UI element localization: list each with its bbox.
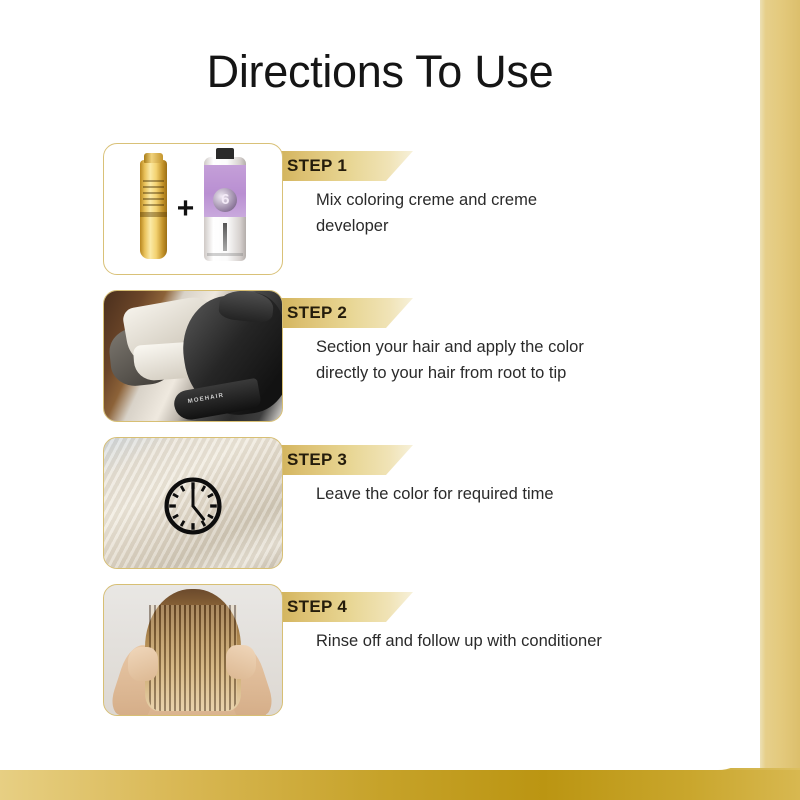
step-row-3: STEP 3 bbox=[103, 437, 723, 569]
gold-border-right bbox=[760, 0, 800, 800]
step-row-4: STEP 4 Rinse off and follow up with cond… bbox=[103, 584, 723, 716]
gold-border-bottom bbox=[0, 768, 800, 800]
step-image-card-1: + 6 bbox=[103, 143, 283, 275]
step-description-3: Leave the color for required time bbox=[316, 481, 736, 507]
right-hand bbox=[226, 645, 256, 679]
step-image-card-4 bbox=[103, 584, 283, 716]
bottle-base bbox=[207, 253, 243, 256]
bottle-purple-label: 6 bbox=[204, 165, 246, 217]
brush-brand-label: MOEHAIR bbox=[187, 393, 224, 405]
bottle-strip bbox=[223, 223, 227, 251]
step-description-2: Section your hair and apply the color di… bbox=[316, 334, 736, 386]
step-badge-1: STEP 1 bbox=[263, 151, 413, 181]
step-row-1: STEP 1 + 6 bbox=[103, 143, 723, 275]
step-row-2: STEP 2 MOEHAIR Section your hair and app… bbox=[103, 290, 723, 422]
step-badge-4: STEP 4 bbox=[263, 592, 413, 622]
creme-developer-bottle-icon: 6 bbox=[204, 157, 246, 261]
clock-icon bbox=[160, 473, 226, 539]
hair-application-photo: MOEHAIR bbox=[104, 291, 282, 421]
page-title: Directions To Use bbox=[0, 46, 760, 98]
step-badge-2: STEP 2 bbox=[263, 298, 413, 328]
conditioner-photo bbox=[104, 585, 282, 715]
step-badge-label: STEP 1 bbox=[287, 151, 347, 181]
directions-to-use-poster: Directions To Use STEP 1 + 6 bbox=[0, 0, 800, 800]
step-badge-3: STEP 3 bbox=[263, 445, 413, 475]
step-badge-label: STEP 4 bbox=[287, 592, 347, 622]
content-layer: Directions To Use STEP 1 + 6 bbox=[0, 0, 760, 770]
glove-finger bbox=[218, 290, 275, 324]
bottle-number: 6 bbox=[204, 189, 246, 211]
plus-icon: + bbox=[177, 194, 195, 224]
step-badge-label: STEP 3 bbox=[287, 445, 347, 475]
tube-label-lines bbox=[143, 180, 164, 206]
step-image-card-3 bbox=[103, 437, 283, 569]
color-brush: MOEHAIR bbox=[172, 378, 262, 422]
coloring-creme-tube-icon bbox=[140, 160, 167, 259]
step-badge-label: STEP 2 bbox=[287, 298, 347, 328]
step-description-1: Mix coloring creme and creme developer bbox=[316, 187, 736, 239]
left-hand bbox=[128, 647, 158, 681]
tube-band bbox=[140, 212, 167, 217]
step-image-card-2: MOEHAIR bbox=[103, 290, 283, 422]
step-description-4: Rinse off and follow up with conditioner bbox=[316, 628, 736, 654]
product-group: + 6 bbox=[104, 144, 282, 274]
